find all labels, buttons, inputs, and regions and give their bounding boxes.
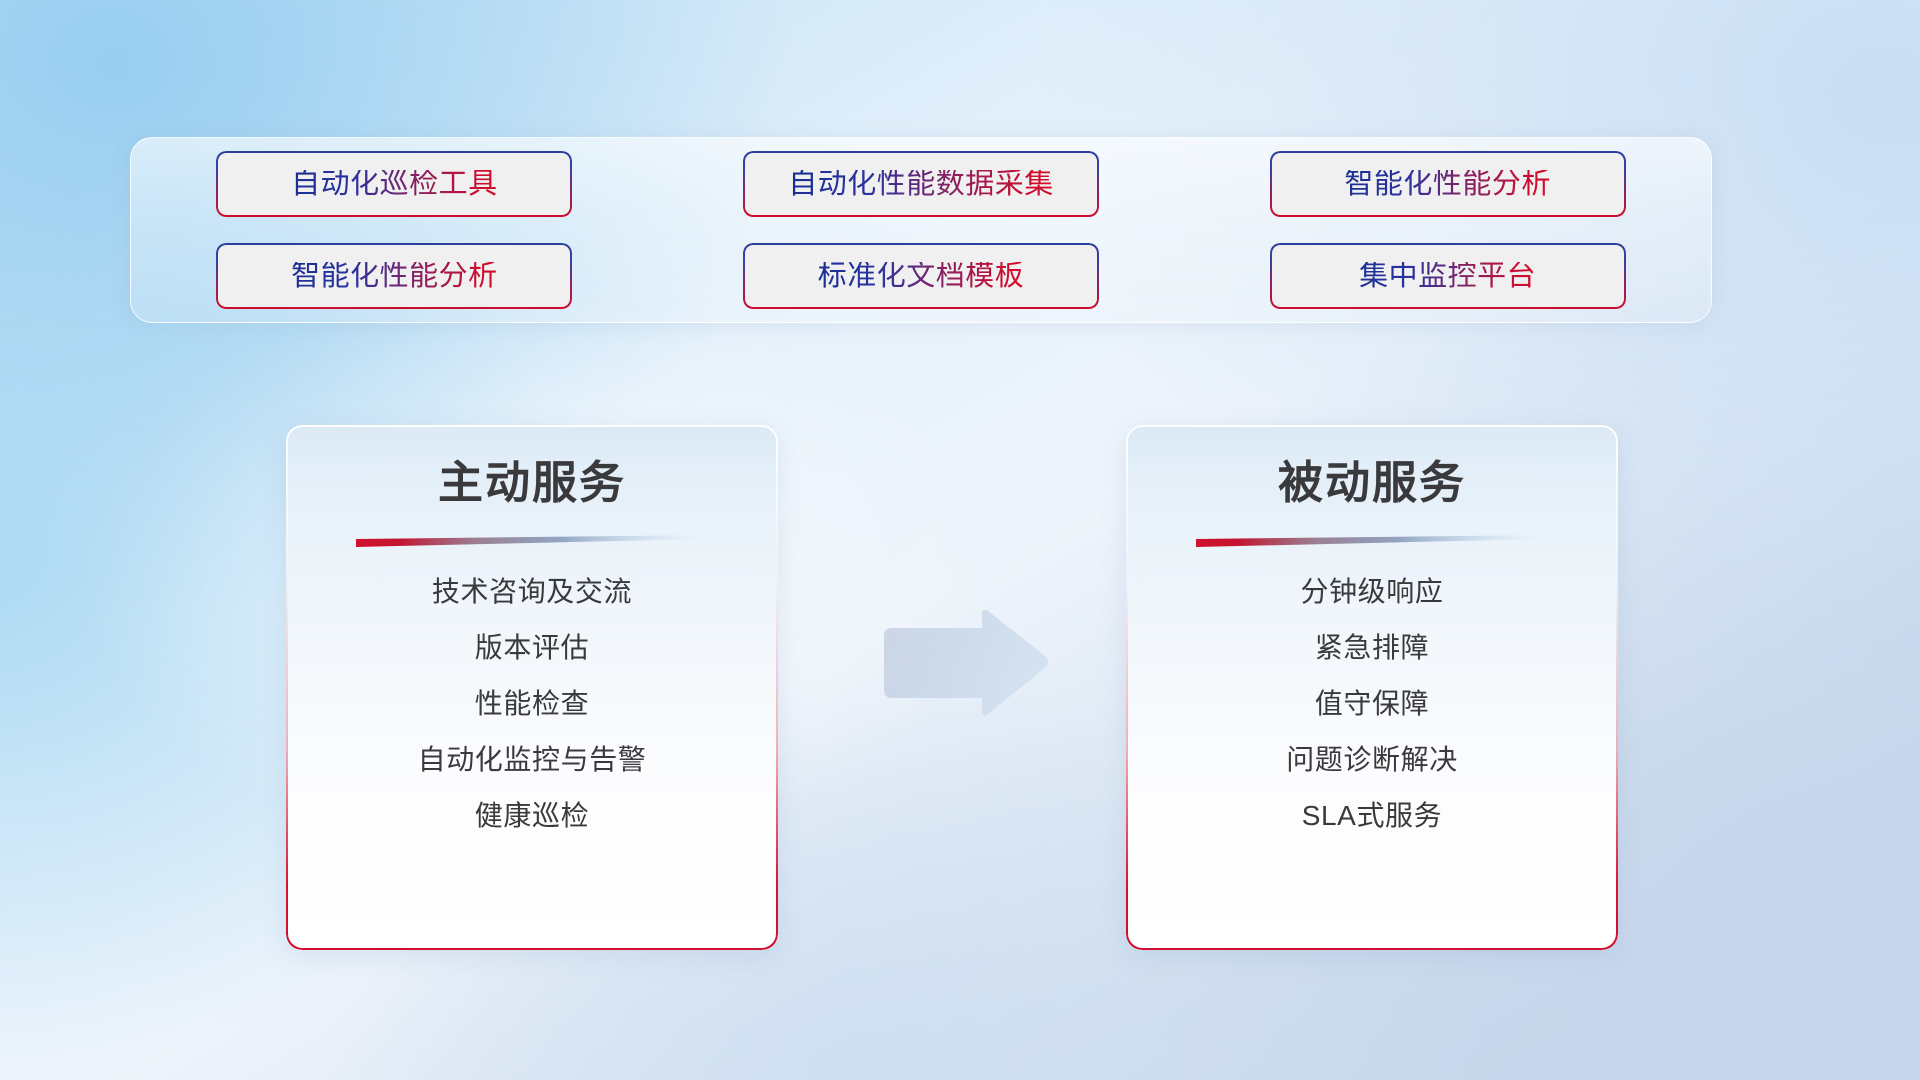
card-title: 被动服务 (1126, 457, 1618, 509)
list-item: 问题诊断解决 (1286, 746, 1458, 774)
list-item: 自动化监控与告警 (418, 746, 647, 774)
list-item: 值守保障 (1315, 690, 1429, 718)
arrow-right-icon (874, 608, 1050, 718)
capability-tag-label: 标准化文档模板 (818, 262, 1025, 291)
list-item: 分钟级响应 (1300, 578, 1443, 606)
title-divider (1196, 535, 1548, 548)
capability-tag[interactable]: 标准化文档模板 (743, 243, 1099, 309)
capability-tag-grid: 自动化巡检工具 自动化性能数据采集 智能化性能分析 智能化性能分析 标准化文档模… (131, 138, 1711, 322)
service-card-proactive: 主动服务 技术咨询及交流 版本评估 性能检查 (286, 425, 778, 950)
capability-tag[interactable]: 集中监控平台 (1270, 243, 1626, 309)
capability-tag-label: 自动化性能数据采集 (788, 170, 1054, 199)
capability-tag-label: 集中监控平台 (1359, 262, 1536, 291)
service-item-list: 分钟级响应 紧急排障 值守保障 问题诊断解决 SLA式服务 (1126, 578, 1618, 830)
list-item: 版本评估 (475, 634, 589, 662)
list-item: 紧急排障 (1315, 634, 1429, 662)
list-item: 性能检查 (475, 690, 589, 718)
capability-tag-label: 自动化巡检工具 (291, 170, 498, 199)
card-title: 主动服务 (286, 457, 778, 509)
capability-tag[interactable]: 智能化性能分析 (216, 243, 572, 309)
list-item: 技术咨询及交流 (432, 578, 632, 606)
list-item: SLA式服务 (1302, 802, 1443, 830)
service-card-reactive: 被动服务 分钟级响应 紧急排障 值守保障 (1126, 425, 1618, 950)
service-item-list: 技术咨询及交流 版本评估 性能检查 自动化监控与告警 健康巡检 (286, 578, 778, 830)
capability-tag[interactable]: 自动化性能数据采集 (743, 151, 1099, 217)
capability-tag[interactable]: 自动化巡检工具 (216, 151, 572, 217)
capability-tag-label: 智能化性能分析 (291, 262, 498, 291)
title-divider (356, 535, 708, 548)
capability-tag-label: 智能化性能分析 (1344, 170, 1551, 199)
slide-canvas: 自动化巡检工具 自动化性能数据采集 智能化性能分析 智能化性能分析 标准化文档模… (0, 0, 1920, 1080)
capabilities-panel: 自动化巡检工具 自动化性能数据采集 智能化性能分析 智能化性能分析 标准化文档模… (130, 137, 1712, 323)
capability-tag[interactable]: 智能化性能分析 (1270, 151, 1626, 217)
list-item: 健康巡检 (475, 802, 589, 830)
